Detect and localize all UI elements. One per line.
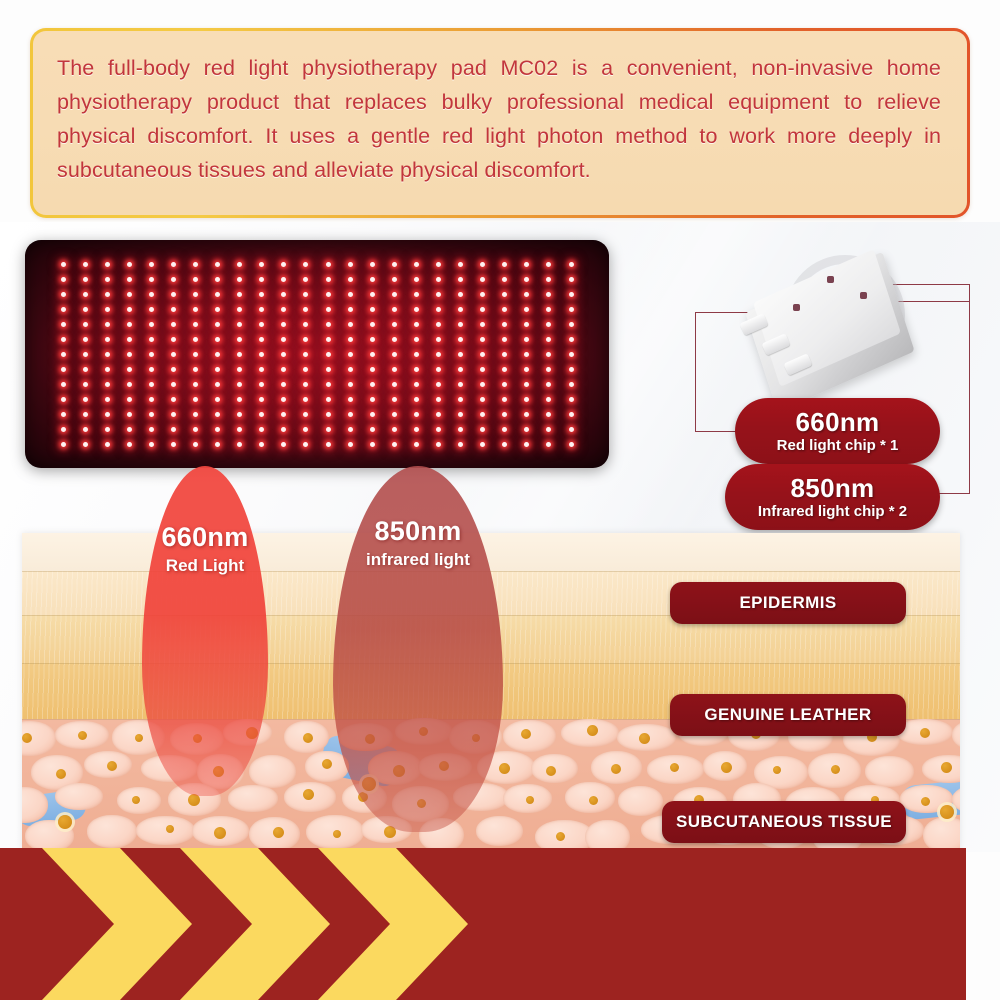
led-dot bbox=[458, 292, 463, 297]
led-dot bbox=[61, 382, 66, 387]
led-dot bbox=[259, 292, 264, 297]
fat-cell-nucleus bbox=[526, 796, 534, 804]
led-dot bbox=[326, 442, 331, 447]
led-dot bbox=[392, 262, 397, 267]
led-dot bbox=[61, 352, 66, 357]
led-dot bbox=[149, 352, 154, 357]
led-dot bbox=[524, 337, 529, 342]
led-dot bbox=[281, 442, 286, 447]
led-dot bbox=[127, 337, 132, 342]
led-dot bbox=[83, 337, 88, 342]
led-dot bbox=[237, 262, 242, 267]
led-dot bbox=[105, 322, 110, 327]
led-dot bbox=[215, 427, 220, 432]
beam-660nm-name: Red Light bbox=[142, 556, 268, 576]
led-dot bbox=[326, 367, 331, 372]
led-dot bbox=[215, 292, 220, 297]
led-dot bbox=[414, 397, 419, 402]
led-dot bbox=[414, 367, 419, 372]
fat-cell-nucleus bbox=[587, 725, 598, 736]
led-dot bbox=[458, 367, 463, 372]
fat-cell-nucleus bbox=[166, 825, 174, 833]
led-dot bbox=[546, 367, 551, 372]
led-dot bbox=[237, 397, 242, 402]
led-dot bbox=[149, 397, 154, 402]
led-dot bbox=[370, 352, 375, 357]
led-dot bbox=[436, 337, 441, 342]
led-dot bbox=[149, 442, 154, 447]
led-dot bbox=[127, 382, 132, 387]
led-dot bbox=[237, 292, 242, 297]
fat-cell-nucleus bbox=[670, 763, 679, 772]
led-dot bbox=[524, 397, 529, 402]
led-dot bbox=[458, 262, 463, 267]
led-dot bbox=[569, 382, 574, 387]
led-dot bbox=[149, 382, 154, 387]
fat-cell-nucleus bbox=[773, 766, 781, 774]
led-dot bbox=[458, 277, 463, 282]
led-dot bbox=[237, 277, 242, 282]
led-dot bbox=[105, 292, 110, 297]
led-dot bbox=[281, 397, 286, 402]
led-dot bbox=[259, 442, 264, 447]
led-dot bbox=[524, 352, 529, 357]
led-dot bbox=[414, 352, 419, 357]
led-dot bbox=[237, 337, 242, 342]
led-dot bbox=[237, 367, 242, 372]
led-dot bbox=[105, 397, 110, 402]
led-dot bbox=[83, 397, 88, 402]
fat-cell bbox=[249, 755, 296, 788]
led-dot bbox=[480, 367, 485, 372]
led-dot bbox=[303, 337, 308, 342]
fat-cell-nucleus bbox=[303, 733, 313, 743]
led-dot bbox=[281, 337, 286, 342]
led-dot bbox=[524, 367, 529, 372]
led-dot bbox=[348, 307, 353, 312]
led-dot bbox=[149, 322, 154, 327]
led-dot bbox=[215, 367, 220, 372]
led-dot bbox=[569, 352, 574, 357]
led-dot bbox=[392, 307, 397, 312]
led-dot bbox=[193, 292, 198, 297]
led-dot bbox=[370, 307, 375, 312]
led-dot bbox=[348, 262, 353, 267]
led-dot bbox=[193, 262, 198, 267]
led-dot bbox=[458, 307, 463, 312]
led-dot bbox=[348, 367, 353, 372]
led-dot bbox=[326, 427, 331, 432]
led-dot bbox=[546, 427, 551, 432]
led-dot bbox=[480, 292, 485, 297]
callout-660nm-description: Red light chip * 1 bbox=[777, 438, 899, 454]
led-dot bbox=[370, 292, 375, 297]
led-dot bbox=[569, 292, 574, 297]
fat-cell-nucleus bbox=[639, 733, 650, 744]
led-dot bbox=[458, 442, 463, 447]
led-dot bbox=[370, 397, 375, 402]
fat-cell-nucleus bbox=[132, 796, 140, 804]
led-dot bbox=[569, 307, 574, 312]
led-dot bbox=[149, 262, 154, 267]
led-dot bbox=[370, 427, 375, 432]
fat-cell-nucleus bbox=[521, 729, 531, 739]
led-dot bbox=[259, 337, 264, 342]
led-dot bbox=[281, 292, 286, 297]
led-dot bbox=[326, 352, 331, 357]
led-dot bbox=[171, 367, 176, 372]
led-dot bbox=[303, 262, 308, 267]
led-dot bbox=[193, 367, 198, 372]
led-dot bbox=[546, 382, 551, 387]
led-dot bbox=[281, 322, 286, 327]
led-dot bbox=[480, 337, 485, 342]
led-dot bbox=[215, 262, 220, 267]
led-dot bbox=[105, 412, 110, 417]
fat-cell-nucleus bbox=[78, 731, 87, 740]
led-dot bbox=[502, 277, 507, 282]
vessel-cell-nucleus bbox=[940, 805, 954, 819]
led-dot bbox=[326, 307, 331, 312]
led-dot bbox=[259, 352, 264, 357]
led-dot bbox=[392, 382, 397, 387]
led-dot bbox=[502, 292, 507, 297]
fat-cell bbox=[585, 820, 630, 850]
led-dot bbox=[83, 307, 88, 312]
led-dot bbox=[171, 307, 176, 312]
led-dot bbox=[61, 367, 66, 372]
led-dot bbox=[149, 292, 154, 297]
led-dot bbox=[61, 322, 66, 327]
fat-cell bbox=[87, 815, 137, 848]
led-dot bbox=[524, 292, 529, 297]
led-dot bbox=[414, 337, 419, 342]
led-dot bbox=[105, 277, 110, 282]
chip-die-infrared-1 bbox=[860, 292, 867, 299]
led-dot bbox=[259, 382, 264, 387]
led-dot bbox=[259, 322, 264, 327]
led-dot bbox=[171, 382, 176, 387]
led-dot bbox=[61, 277, 66, 282]
led-dot bbox=[326, 262, 331, 267]
led-dot bbox=[480, 322, 485, 327]
skin-tag-subcutaneous-tissue: SUBCUTANEOUS TISSUE bbox=[662, 801, 906, 843]
led-dot bbox=[569, 397, 574, 402]
led-dot bbox=[171, 442, 176, 447]
led-dot bbox=[480, 262, 485, 267]
led-dot bbox=[414, 412, 419, 417]
led-dot bbox=[524, 442, 529, 447]
led-dot bbox=[303, 352, 308, 357]
led-dot bbox=[215, 307, 220, 312]
beam-850nm-wavelength: 850nm bbox=[333, 516, 503, 546]
led-dot bbox=[436, 307, 441, 312]
vessel-cell-nucleus bbox=[58, 815, 72, 829]
led-dot bbox=[546, 337, 551, 342]
led-dot bbox=[61, 397, 66, 402]
led-dot bbox=[193, 277, 198, 282]
led-dot bbox=[326, 412, 331, 417]
fat-cell-nucleus bbox=[546, 766, 556, 776]
led-dot bbox=[326, 292, 331, 297]
led-dot bbox=[83, 442, 88, 447]
led-dot bbox=[259, 412, 264, 417]
led-dot bbox=[303, 367, 308, 372]
led-dot bbox=[326, 322, 331, 327]
led-dot bbox=[193, 307, 198, 312]
led-dot bbox=[326, 397, 331, 402]
led-dot bbox=[193, 442, 198, 447]
led-dot bbox=[303, 442, 308, 447]
led-dot bbox=[502, 382, 507, 387]
led-dot bbox=[237, 442, 242, 447]
led-dot bbox=[546, 277, 551, 282]
led-dot bbox=[83, 352, 88, 357]
led-dot bbox=[436, 442, 441, 447]
skin-tag-epidermis: EPIDERMIS bbox=[670, 582, 906, 624]
led-dot bbox=[171, 427, 176, 432]
led-dot bbox=[569, 277, 574, 282]
led-dot bbox=[458, 322, 463, 327]
led-dot bbox=[348, 352, 353, 357]
led-dot bbox=[370, 277, 375, 282]
led-dot bbox=[215, 352, 220, 357]
led-dot bbox=[546, 307, 551, 312]
led-dot bbox=[480, 412, 485, 417]
led-dot bbox=[502, 307, 507, 312]
led-dot bbox=[193, 322, 198, 327]
led-dot bbox=[502, 412, 507, 417]
description-panel-inner: The full-body red light physiotherapy pa… bbox=[33, 31, 967, 215]
led-dot bbox=[105, 307, 110, 312]
led-dot bbox=[546, 442, 551, 447]
led-dot bbox=[237, 352, 242, 357]
led-dot bbox=[524, 277, 529, 282]
led-dot bbox=[480, 307, 485, 312]
led-dot bbox=[392, 292, 397, 297]
fat-cell-nucleus bbox=[333, 830, 341, 838]
led-dot bbox=[524, 412, 529, 417]
led-dot bbox=[436, 262, 441, 267]
fat-cell-nucleus bbox=[499, 763, 510, 774]
led-dot bbox=[458, 352, 463, 357]
led-dot bbox=[105, 352, 110, 357]
led-dot bbox=[171, 397, 176, 402]
led-dot bbox=[281, 307, 286, 312]
led-dot bbox=[303, 427, 308, 432]
led-dot bbox=[281, 277, 286, 282]
led-dot bbox=[171, 262, 176, 267]
fat-cell bbox=[865, 756, 914, 787]
chip-die-infrared-2 bbox=[793, 304, 800, 311]
led-dot bbox=[127, 442, 132, 447]
led-dot bbox=[149, 367, 154, 372]
led-dot bbox=[569, 427, 574, 432]
beam-850nm-name: infrared light bbox=[333, 550, 503, 570]
led-dot bbox=[326, 382, 331, 387]
led-dot bbox=[127, 367, 132, 372]
led-dot bbox=[414, 322, 419, 327]
led-dot bbox=[193, 412, 198, 417]
fat-cell bbox=[228, 785, 278, 812]
led-dot bbox=[546, 322, 551, 327]
led-dot bbox=[546, 412, 551, 417]
led-dot bbox=[61, 427, 66, 432]
led-dot bbox=[348, 292, 353, 297]
led-dot bbox=[370, 262, 375, 267]
led-dot bbox=[105, 442, 110, 447]
skin-tag-subcutaneous-tissue-label: SUBCUTANEOUS TISSUE bbox=[676, 812, 892, 832]
led-dot bbox=[524, 307, 529, 312]
led-dot bbox=[303, 382, 308, 387]
led-dot bbox=[127, 397, 132, 402]
led-dot bbox=[569, 337, 574, 342]
led-dot bbox=[303, 292, 308, 297]
fat-cell-nucleus bbox=[589, 796, 598, 805]
led-dot bbox=[83, 262, 88, 267]
beam-660nm-wavelength: 660nm bbox=[142, 522, 268, 552]
led-dot bbox=[259, 307, 264, 312]
led-dot bbox=[215, 277, 220, 282]
skin-tag-epidermis-label: EPIDERMIS bbox=[739, 593, 836, 613]
led-dot bbox=[348, 427, 353, 432]
led-dot bbox=[61, 412, 66, 417]
led-dot bbox=[171, 277, 176, 282]
led-dot bbox=[237, 427, 242, 432]
led-dot bbox=[458, 427, 463, 432]
fat-cell-nucleus bbox=[22, 733, 32, 743]
callout-660nm-wavelength: 660nm bbox=[796, 409, 880, 435]
led-dot bbox=[370, 442, 375, 447]
led-dot bbox=[149, 277, 154, 282]
led-dot bbox=[414, 427, 419, 432]
led-dot bbox=[105, 427, 110, 432]
led-dot bbox=[502, 397, 507, 402]
led-dot bbox=[259, 427, 264, 432]
led-dot bbox=[171, 322, 176, 327]
led-dot bbox=[193, 352, 198, 357]
product-description-text: The full-body red light physiotherapy pa… bbox=[57, 51, 941, 187]
skin-tag-genuine-leather-label: GENUINE LEATHER bbox=[704, 705, 871, 725]
fat-cell-nucleus bbox=[214, 827, 226, 839]
led-dot bbox=[546, 397, 551, 402]
skin-tag-genuine-leather: GENUINE LEATHER bbox=[670, 694, 906, 736]
beam-850nm-label: 850nm infrared light bbox=[333, 516, 503, 570]
led-dot bbox=[370, 337, 375, 342]
led-dot bbox=[348, 322, 353, 327]
led-dot bbox=[281, 427, 286, 432]
led-dot bbox=[259, 277, 264, 282]
led-dot bbox=[458, 382, 463, 387]
led-dot bbox=[524, 322, 529, 327]
led-dot bbox=[370, 382, 375, 387]
led-dot bbox=[281, 352, 286, 357]
led-dot bbox=[105, 262, 110, 267]
led-dot bbox=[546, 292, 551, 297]
led-dot bbox=[83, 322, 88, 327]
led-dot bbox=[370, 412, 375, 417]
led-dot bbox=[61, 307, 66, 312]
fat-cell bbox=[476, 816, 523, 846]
led-dot bbox=[171, 412, 176, 417]
led-dot bbox=[61, 442, 66, 447]
beam-850nm-infrared-light: 850nm infrared light bbox=[333, 466, 503, 832]
led-dot bbox=[127, 412, 132, 417]
led-dot bbox=[105, 382, 110, 387]
led-dot bbox=[392, 427, 397, 432]
led-dot bbox=[259, 262, 264, 267]
led-dot bbox=[392, 337, 397, 342]
led-dot bbox=[502, 352, 507, 357]
led-dot bbox=[502, 337, 507, 342]
chip-die-red bbox=[827, 276, 834, 283]
led-dot bbox=[61, 262, 66, 267]
led-dot bbox=[502, 427, 507, 432]
led-dot bbox=[436, 412, 441, 417]
led-dot bbox=[259, 397, 264, 402]
led-dot bbox=[436, 292, 441, 297]
leader-line-left-vertical bbox=[695, 312, 697, 432]
fat-cell-nucleus bbox=[920, 728, 930, 738]
led-dot bbox=[171, 337, 176, 342]
led-dot bbox=[303, 397, 308, 402]
led-dot bbox=[61, 337, 66, 342]
led-dot bbox=[414, 292, 419, 297]
fat-cell bbox=[923, 817, 960, 850]
led-dot bbox=[414, 382, 419, 387]
led-dot bbox=[171, 352, 176, 357]
led-dot bbox=[436, 352, 441, 357]
led-dot bbox=[215, 322, 220, 327]
led-dot bbox=[524, 382, 529, 387]
beam-660nm-label: 660nm Red Light bbox=[142, 522, 268, 576]
callout-850nm-description: Infrared light chip * 2 bbox=[758, 504, 907, 520]
led-dot bbox=[480, 382, 485, 387]
fat-cell-nucleus bbox=[273, 827, 284, 838]
led-dot bbox=[83, 427, 88, 432]
led-dot bbox=[458, 412, 463, 417]
led-dot bbox=[392, 352, 397, 357]
led-dot bbox=[326, 277, 331, 282]
led-dot bbox=[348, 442, 353, 447]
led-dot bbox=[546, 262, 551, 267]
led-dot bbox=[458, 337, 463, 342]
led-chip-illustration bbox=[735, 260, 940, 395]
led-grid bbox=[25, 240, 609, 468]
led-dot bbox=[303, 322, 308, 327]
led-dot bbox=[127, 277, 132, 282]
led-dot bbox=[281, 262, 286, 267]
led-dot bbox=[259, 367, 264, 372]
led-dot bbox=[193, 382, 198, 387]
led-dot bbox=[436, 382, 441, 387]
led-dot bbox=[348, 337, 353, 342]
led-dot bbox=[414, 442, 419, 447]
led-dot bbox=[348, 412, 353, 417]
led-dot bbox=[105, 367, 110, 372]
callout-850nm: 850nm Infrared light chip * 2 bbox=[725, 464, 940, 530]
fat-cell-nucleus bbox=[107, 761, 117, 771]
led-dot bbox=[436, 367, 441, 372]
led-dot bbox=[193, 337, 198, 342]
led-dot bbox=[281, 367, 286, 372]
callout-850nm-wavelength: 850nm bbox=[791, 475, 875, 501]
led-dot bbox=[127, 352, 132, 357]
led-dot bbox=[237, 322, 242, 327]
led-dot bbox=[480, 427, 485, 432]
led-dot bbox=[502, 262, 507, 267]
callout-660nm: 660nm Red light chip * 1 bbox=[735, 398, 940, 464]
